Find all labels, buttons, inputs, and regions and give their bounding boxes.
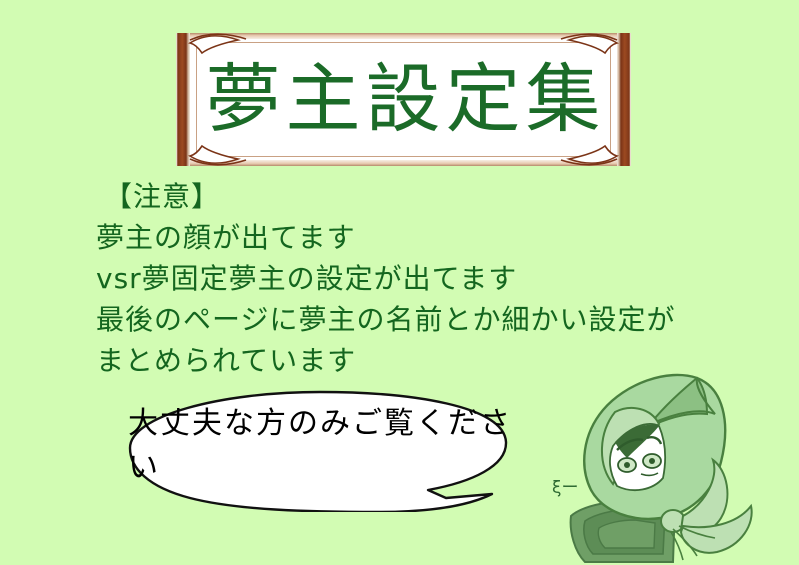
poster-canvas: 夢主設定集 【注意】 夢主の顔が出てます vsr夢固定夢主の設定が出てます 最後… xyxy=(0,0,799,565)
notice-line-4: 最後のページに夢主の名前とか細かい設定が xyxy=(96,299,696,340)
page-title: 夢主設定集 xyxy=(176,33,631,166)
speech-bubble-text: 大丈夫な方のみご覧ください xyxy=(128,390,512,498)
notice-line-1: 【注意】 xyxy=(96,176,696,217)
title-plaque: 夢主設定集 xyxy=(176,33,631,166)
notice-line-3: vsr夢固定夢主の設定が出てます xyxy=(96,258,696,299)
notice-line-2: 夢主の顔が出てます xyxy=(96,217,696,258)
speech-bubble: 大丈夫な方のみご覧ください xyxy=(128,390,528,512)
notice-text-block: 【注意】 夢主の顔が出てます vsr夢固定夢主の設定が出てます 最後のページに夢… xyxy=(96,176,696,381)
hooded-character-illustration xyxy=(555,366,799,565)
